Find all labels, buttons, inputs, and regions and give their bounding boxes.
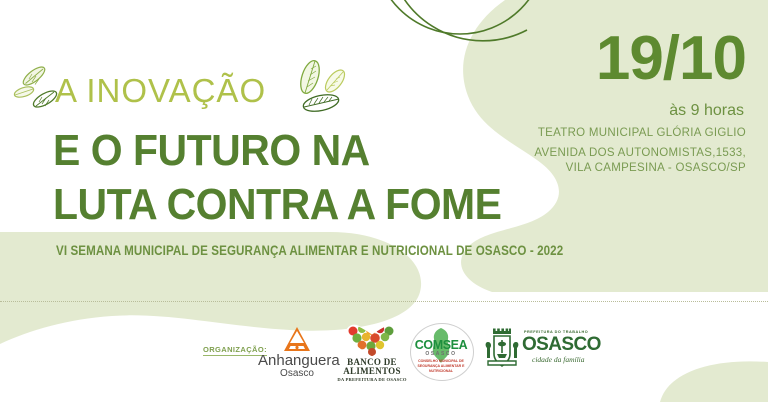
logo-banco-de-alimentos: BANCO DE ALIMENTOS DA PREFEITURA DE OSAS… bbox=[336, 324, 408, 382]
anhanguera-name: Anhanguera bbox=[258, 353, 336, 368]
venue-name: TEATRO MUNICIPAL GLÓRIA GIGLIO bbox=[534, 126, 746, 141]
anhanguera-mountain-icon bbox=[277, 326, 317, 352]
event-subtitle: VI SEMANA MUNICIPAL DE SEGURANÇA ALIMENT… bbox=[56, 243, 563, 258]
leaf-icon bbox=[297, 58, 323, 95]
logo-comsea: COMSEA OSASCO CONSELHO MUNICIPAL DE SEGU… bbox=[408, 323, 476, 379]
leaf-icon bbox=[13, 85, 35, 100]
banco-line3: DA PREFEITURA DE OSASCO bbox=[336, 377, 408, 383]
comsea-description: CONSELHO MUNICIPAL DE SEGURANÇA ALIMENTA… bbox=[412, 359, 470, 374]
event-venue: TEATRO MUNICIPAL GLÓRIA GIGLIO AVENIDA D… bbox=[534, 126, 746, 176]
leaf-icon bbox=[21, 64, 48, 88]
venue-city: VILA CAMPESINA - OSASCO/SP bbox=[534, 161, 746, 176]
headline-line-1: E O FUTURO NA bbox=[53, 129, 370, 173]
osasco-tagline: cidade da família bbox=[532, 355, 585, 364]
comsea-city: OSASCO bbox=[408, 351, 474, 357]
venue-address: AVENIDA DOS AUTONOMISTAS,1533, bbox=[534, 146, 746, 161]
headline-block: A INOVAÇÃO E O FUTURO NA LUTA CONTRA A F… bbox=[0, 0, 520, 300]
banco-line2: ALIMENTOS bbox=[336, 367, 408, 376]
leaf-cluster-left bbox=[12, 62, 70, 114]
anhanguera-subtitle: Osasco bbox=[258, 368, 336, 380]
osasco-word: OSASCO bbox=[522, 335, 601, 354]
leaf-cluster-right bbox=[285, 55, 365, 121]
logo-prefeitura-osasco: PREFEITURA DO TRABALHO OSASCO cidade da … bbox=[484, 328, 594, 374]
leaf-icon bbox=[322, 67, 348, 95]
dotted-divider bbox=[0, 301, 768, 302]
event-info-block: 19/10 às 9 horas TEATRO MUNICIPAL GLÓRIA… bbox=[516, 0, 768, 300]
leaf-icon bbox=[31, 88, 59, 110]
bottom-right-blob bbox=[660, 361, 768, 402]
event-poster: A INOVAÇÃO E O FUTURO NA LUTA CONTRA A F… bbox=[0, 0, 768, 402]
logo-anhanguera: Anhanguera Osasco bbox=[258, 326, 336, 380]
leaf-icon bbox=[302, 92, 340, 114]
osasco-coat-of-arms-icon bbox=[484, 328, 520, 372]
event-time: às 9 horas bbox=[669, 102, 744, 120]
headline-line-2: LUTA CONTRA A FOME bbox=[53, 183, 502, 227]
food-heart-icon bbox=[343, 324, 401, 358]
event-date: 19/10 bbox=[596, 28, 746, 90]
kicker-text: A INOVAÇÃO bbox=[55, 74, 266, 107]
comsea-word: COMSEA bbox=[408, 339, 474, 352]
